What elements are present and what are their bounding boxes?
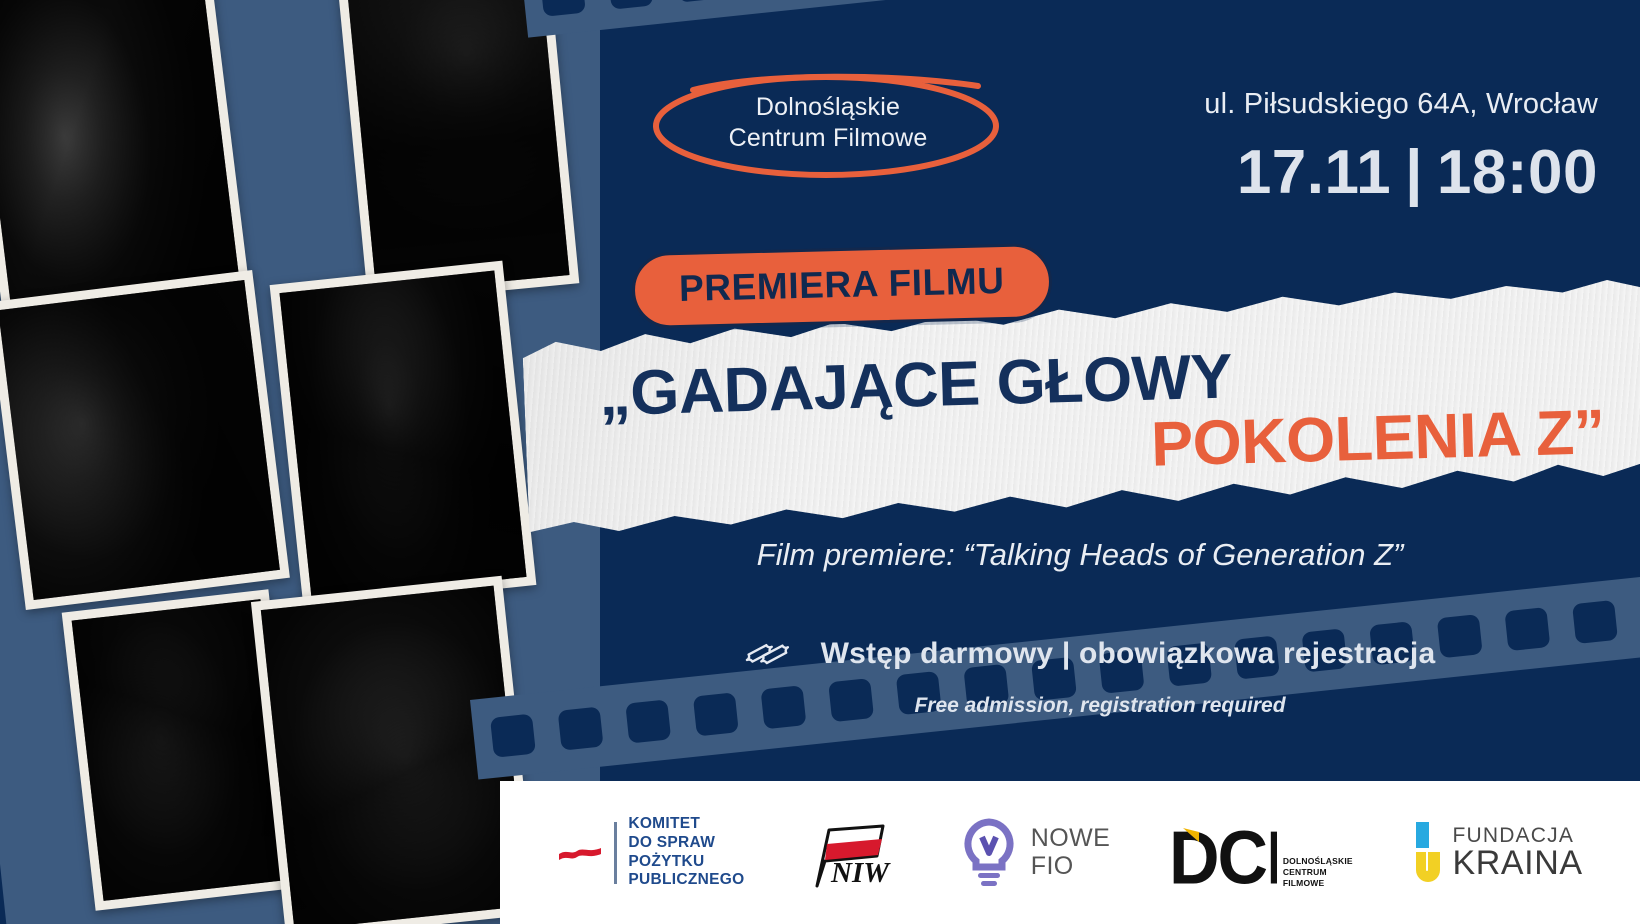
nowe-fio-text: NOWE FIO <box>1031 825 1110 880</box>
fundacja-ukraina-text: FUNDACJA KRAINA <box>1452 825 1582 880</box>
komitet-line-4: PUBLICZNEGO <box>628 871 744 890</box>
komitet-line-2: DO SPRAW <box>628 834 744 853</box>
logo-line-1: Dolnośląskie <box>756 92 900 124</box>
dcf-mark-icon: DCF <box>1169 812 1277 894</box>
logo-divider <box>614 822 617 884</box>
film-subtitle-english: Film premiere: “Talking Heads of Generat… <box>0 537 1640 573</box>
komitet-logo-text: KOMITET DO SPRAW POŻYTKU PUBLICZNEGO <box>628 815 744 891</box>
premiere-badge: PREMIERA FILMU <box>631 243 1052 329</box>
film-strip-top-decoration <box>520 0 1640 38</box>
poster-root: Dolnośląskie Centrum Filmowe ul. Piłsuds… <box>0 0 1640 924</box>
nowe-fio-line-1: NOWE <box>1031 825 1110 853</box>
logo-dcf[interactable]: DCF DOLNOŚLĄSKIE CENTRUM FILMOWE <box>1169 812 1353 894</box>
logo-line-2: Centrum Filmowe <box>729 123 928 155</box>
collage-photo <box>337 0 580 303</box>
dcf-brand-logo[interactable]: Dolnośląskie Centrum Filmowe <box>648 64 1008 182</box>
niw-label: NIW <box>830 857 891 889</box>
dcf-caption: DOLNOŚLĄSKIE CENTRUM FILMOWE <box>1283 856 1353 893</box>
admission-text-pl: Wstęp darmowy | obowiązkowa rejestracja <box>821 637 1436 671</box>
event-date: 17.11 <box>1237 138 1391 207</box>
logo-fundacja-ukraina[interactable]: FUNDACJA KRAINA <box>1411 818 1582 888</box>
tickets-icon <box>745 632 797 676</box>
sponsor-logo-bar: KOMITET DO SPRAW POŻYTKU PUBLICZNEGO NIW <box>500 781 1640 924</box>
dcf-caption-line-2: CENTRUM <box>1283 867 1353 878</box>
logo-niw[interactable]: NIW <box>803 816 899 890</box>
komitet-line-1: KOMITET <box>628 815 744 834</box>
logo-komitet-do-spraw-pozytku-publicznego[interactable]: KOMITET DO SPRAW POŻYTKU PUBLICZNEGO <box>557 815 744 891</box>
datetime-separator: | <box>1391 138 1437 207</box>
venue-address: ul. Piłsudskiego 64A, Wrocław <box>1204 88 1598 121</box>
dcf-caption-line-3: FILMOWE <box>1283 878 1353 889</box>
dcf-caption-line-1: DOLNOŚLĄSKIE <box>1283 856 1353 867</box>
fundacja-line-1: FUNDACJA <box>1452 825 1582 846</box>
nowe-fio-line-2: FIO <box>1031 853 1110 881</box>
lightbulb-icon <box>958 817 1020 889</box>
fundacja-line-2: KRAINA <box>1452 846 1582 880</box>
admission-text-en: Free admission, registration required <box>0 694 1640 718</box>
ukraine-u-icon <box>1411 818 1441 888</box>
event-datetime: 17.11|18:00 <box>1237 140 1598 205</box>
logo-nowe-fio[interactable]: NOWE FIO <box>958 817 1110 889</box>
dcf-label: DCF <box>1169 815 1277 893</box>
event-time: 18:00 <box>1437 138 1598 207</box>
komitet-line-3: POŻYTKU <box>628 853 744 872</box>
admission-info: Wstęp darmowy | obowiązkowa rejestracja <box>0 632 1640 676</box>
niw-flag-icon: NIW <box>803 816 899 890</box>
film-title: „GADAJĄCE GŁOWY POKOLENIA Z” <box>598 334 1611 493</box>
collage-photo <box>0 0 248 310</box>
polish-flag-emblem-icon <box>557 840 603 866</box>
